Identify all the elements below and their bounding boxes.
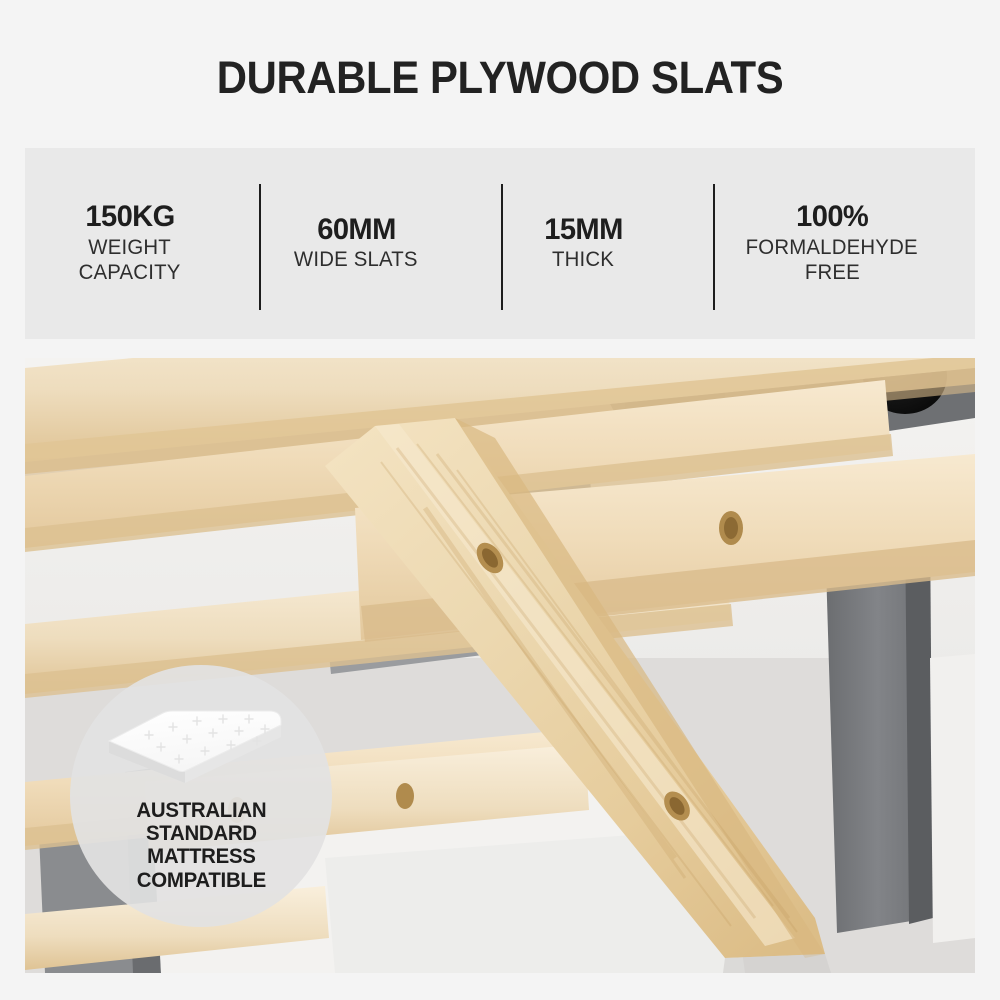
spec-bar: 150KG WEIGHT CAPACITY 60MM WIDE SLATS 15… xyxy=(25,148,975,339)
spec-value: 15MM xyxy=(544,214,623,246)
spec-item-thickness: 15MM THICK xyxy=(477,148,689,339)
spec-label-line1: WIDE SLATS xyxy=(294,248,418,273)
mattress-icon xyxy=(101,691,301,787)
spec-divider xyxy=(259,184,261,310)
page-title: DURABLE PLYWOOD SLATS xyxy=(35,52,965,104)
spec-label-line2: FREE xyxy=(804,261,859,286)
spec-label-line1: THICK xyxy=(552,248,614,273)
badge-line-4: COMPATIBLE xyxy=(136,869,266,892)
spec-label-line1: WEIGHT xyxy=(89,236,172,261)
spec-divider xyxy=(501,184,503,310)
spec-item-weight-capacity: 150KG WEIGHT CAPACITY xyxy=(25,148,235,339)
spec-label-line2: CAPACITY xyxy=(79,261,181,286)
spec-value: 150KG xyxy=(85,201,174,233)
spec-item-formaldehyde-free: 100% FORMALDEHYDE FREE xyxy=(689,148,975,339)
badge-line-1: AUSTRALIAN xyxy=(136,799,266,822)
spec-label-line1: FORMALDEHYDE xyxy=(746,236,918,261)
spec-divider xyxy=(713,184,715,310)
badge-line-3: MATTRESS xyxy=(136,845,266,868)
badge-line-2: STANDARD xyxy=(136,822,266,845)
badge-text: AUSTRALIAN STANDARD MATTRESS COMPATIBLE xyxy=(136,799,266,892)
spec-value: 100% xyxy=(796,201,868,233)
spec-item-wide-slats: 60MM WIDE SLATS xyxy=(235,148,477,339)
infographic-page: DURABLE PLYWOOD SLATS 150KG WEIGHT CAPAC… xyxy=(0,0,1000,1000)
australian-standard-badge: AUSTRALIAN STANDARD MATTRESS COMPATIBLE xyxy=(70,665,332,927)
mattress-icon-svg xyxy=(101,691,301,787)
spec-value: 60MM xyxy=(317,214,396,246)
